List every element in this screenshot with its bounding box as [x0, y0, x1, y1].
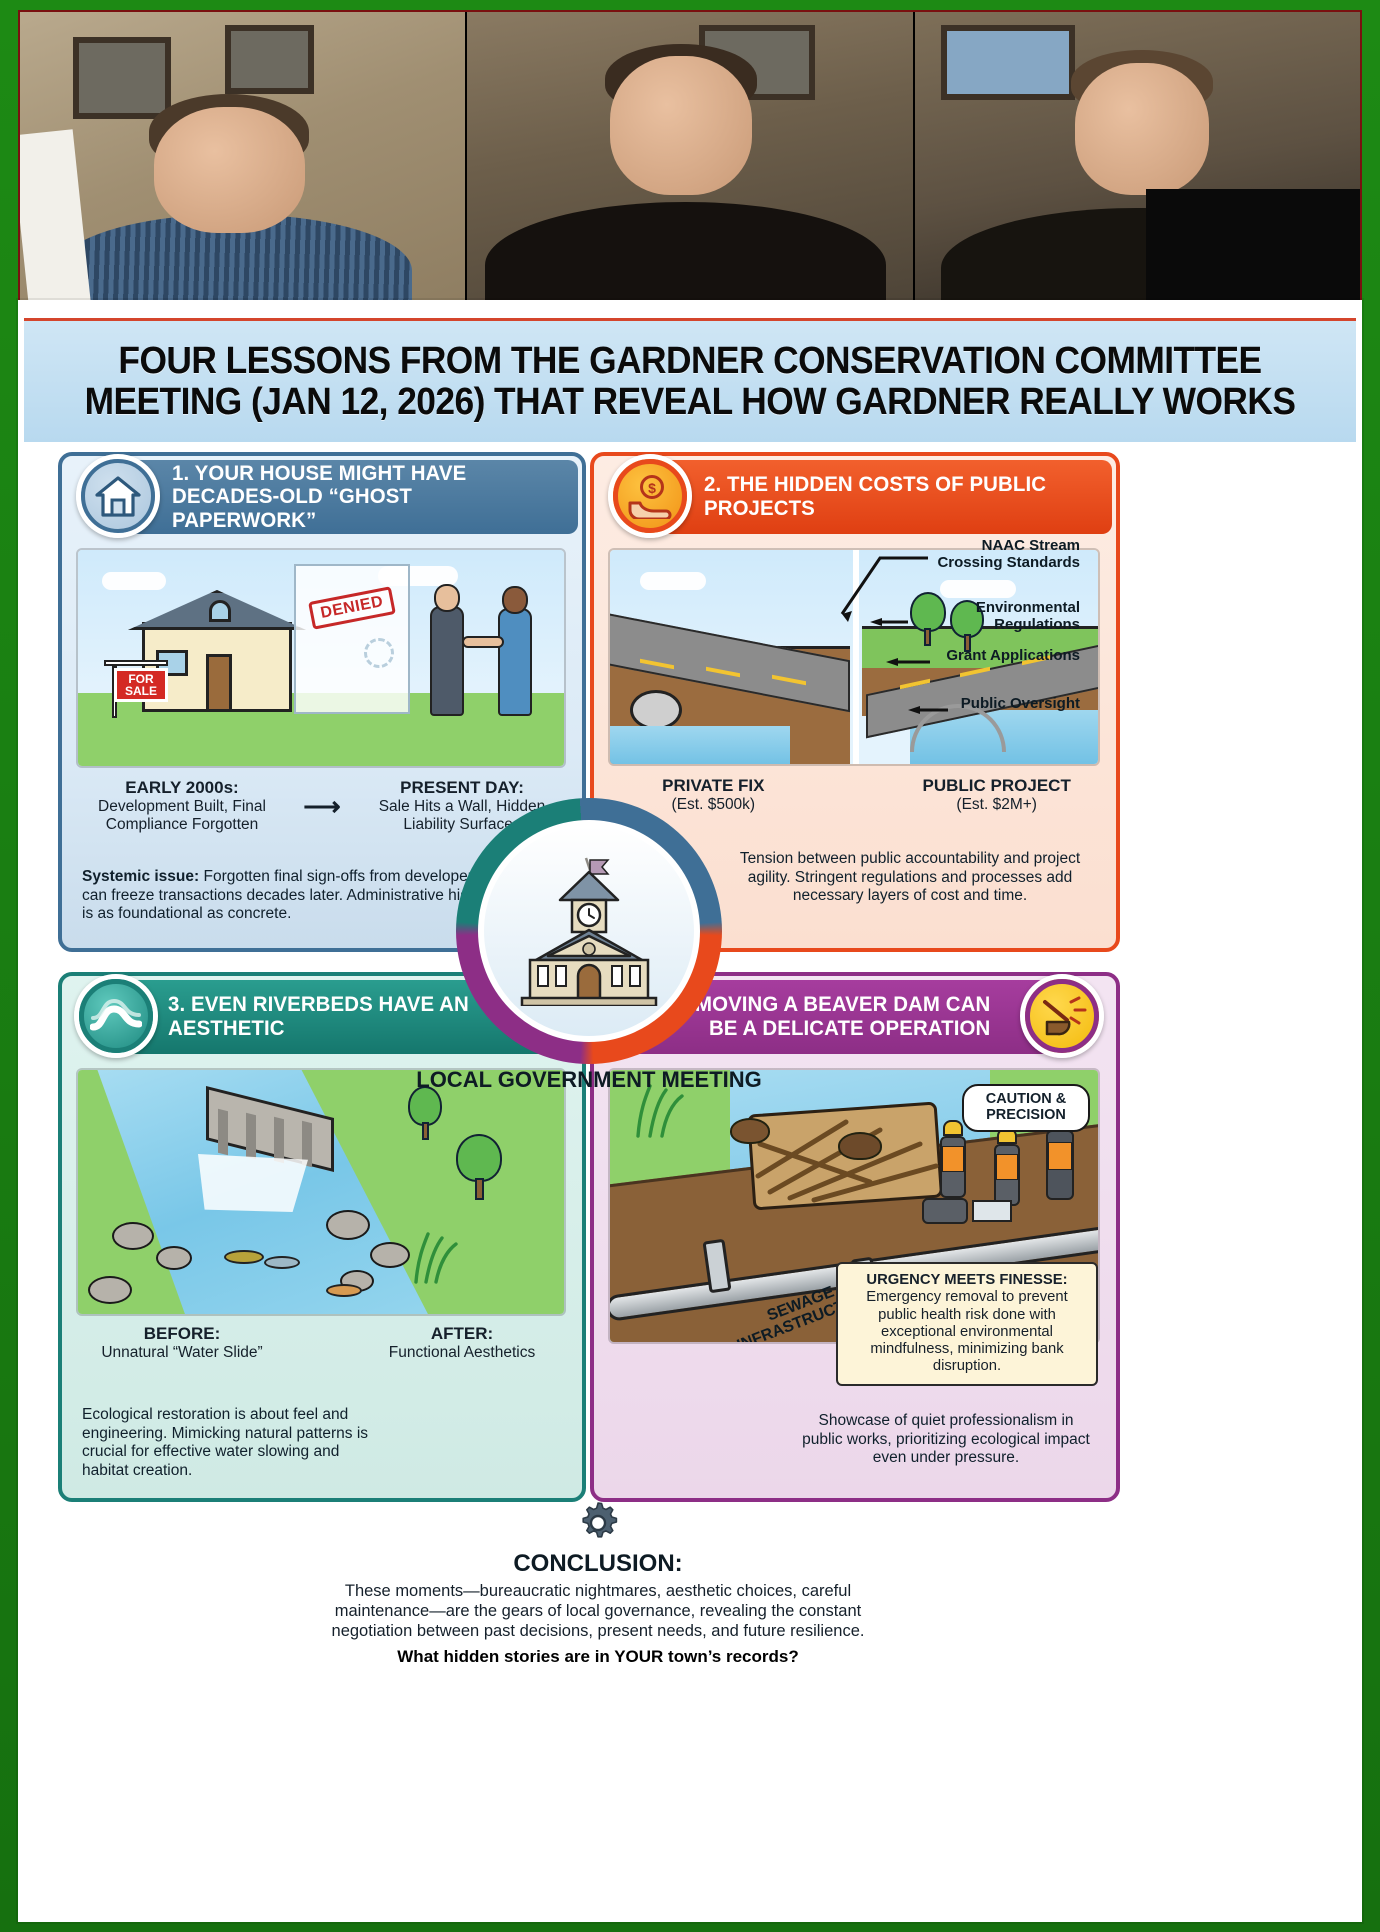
card-3-captions: BEFORE: Unnatural “Water Slide” AFTER: F… — [72, 1324, 572, 1362]
video-tile-participant-3 — [915, 12, 1360, 328]
beaver — [838, 1132, 882, 1160]
card-1-illustration: FOR SALE DENIED — [76, 548, 566, 768]
arrow-right-icon: ⟶ — [303, 791, 340, 822]
card-3-note-body: Ecological restoration is about feel and… — [82, 1406, 368, 1479]
card-4-callout: URGENCY MEETS FINESSE: Emergency removal… — [836, 1262, 1098, 1386]
card-1-note: Systemic issue: Forgotten final sign-off… — [70, 862, 510, 930]
page-background: FOUR LESSONS FROM THE GARDNER CONSERVATI… — [0, 0, 1380, 1932]
conclusion-heading: CONCLUSION: — [318, 1550, 878, 1578]
town-hall-icon — [478, 820, 700, 1042]
beaver — [730, 1118, 770, 1144]
annotation-environmental-regulations: Environmental Regulations — [912, 600, 1080, 634]
caption-after: AFTER: Functional Aesthetics — [352, 1324, 572, 1362]
hand-holding-coin-icon: $ — [608, 454, 692, 538]
house-icon — [76, 454, 160, 538]
title-banner: FOUR LESSONS FROM THE GARDNER CONSERVATI… — [24, 318, 1356, 442]
window-view — [941, 25, 1075, 101]
card-4-note-body: Showcase of quiet professionalism in pub… — [802, 1412, 1090, 1466]
card-1-note-lead: Systemic issue: — [82, 868, 199, 885]
card-1-heading: 1. YOUR HOUSE MIGHT HAVE DECADES-OLD “GH… — [172, 462, 558, 533]
callout-title: URGENCY MEETS FINESSE: — [866, 1272, 1067, 1288]
page-title: FOUR LESSONS FROM THE GARDNER CONSERVATI… — [71, 341, 1310, 422]
conclusion-body: These moments—bureaucratic nightmares, a… — [318, 1582, 878, 1641]
participant-head — [154, 107, 305, 233]
card-2-heading: 2. THE HIDDEN COSTS OF PUBLIC PROJECTS — [704, 473, 1092, 520]
infographic-board: FOUR LESSONS FROM THE GARDNER CONSERVATI… — [18, 300, 1362, 1922]
card-2-note: Tension between public accountability an… — [710, 844, 1110, 912]
card-3-note: Ecological restoration is about feel and… — [70, 1400, 400, 1486]
center-hub — [456, 798, 722, 1064]
card-4-note: Showcase of quiet professionalism in pub… — [788, 1406, 1104, 1474]
river-stream-icon — [74, 974, 158, 1058]
participant-head — [1075, 63, 1209, 196]
caution-thought-bubble: CAUTION & PRECISION — [962, 1084, 1090, 1132]
excavator-bucket-icon — [1020, 974, 1104, 1058]
video-tile-participant-2 — [467, 12, 912, 328]
card-2-note-body: Tension between public accountability an… — [740, 850, 1080, 904]
callout-body: Emergency removal to prevent public heal… — [866, 1289, 1068, 1374]
card-1-header: 1. YOUR HOUSE MIGHT HAVE DECADES-OLD “GH… — [118, 460, 578, 534]
caption-before: BEFORE: Unnatural “Water Slide” — [72, 1324, 292, 1362]
annotation-public-oversight: Public Oversight — [948, 696, 1080, 713]
conclusion-block: CONCLUSION: These moments—bureaucratic n… — [318, 1500, 878, 1667]
gear-icon — [575, 1500, 621, 1546]
video-tile-participant-1 — [20, 12, 465, 328]
annotation-grant-applications: Grant Applications — [930, 648, 1080, 665]
wall-frame-icon — [225, 25, 314, 95]
hub-label: LOCAL GOVERNMENT MEETING — [414, 1068, 764, 1092]
caption-early-2000s: EARLY 2000s: Development Built, Final Co… — [72, 778, 292, 835]
card-3-illustration — [76, 1068, 566, 1316]
caption-public-project: PUBLIC PROJECT (Est. $2M+) — [885, 776, 1108, 814]
svg-text:$: $ — [648, 480, 656, 496]
video-call-strip — [18, 10, 1362, 330]
for-sale-sign-label: FOR SALE — [117, 673, 165, 697]
participant-head — [610, 56, 753, 195]
conclusion-question: What hidden stories are in YOUR town’s r… — [318, 1647, 878, 1667]
annotation-naac-standards: NAAC Stream Crossing Standards — [930, 538, 1080, 572]
card-2-header: 2. THE HIDDEN COSTS OF PUBLIC PROJECTS — [650, 460, 1112, 534]
wall-frame-icon — [73, 37, 171, 119]
held-paper — [20, 129, 91, 312]
